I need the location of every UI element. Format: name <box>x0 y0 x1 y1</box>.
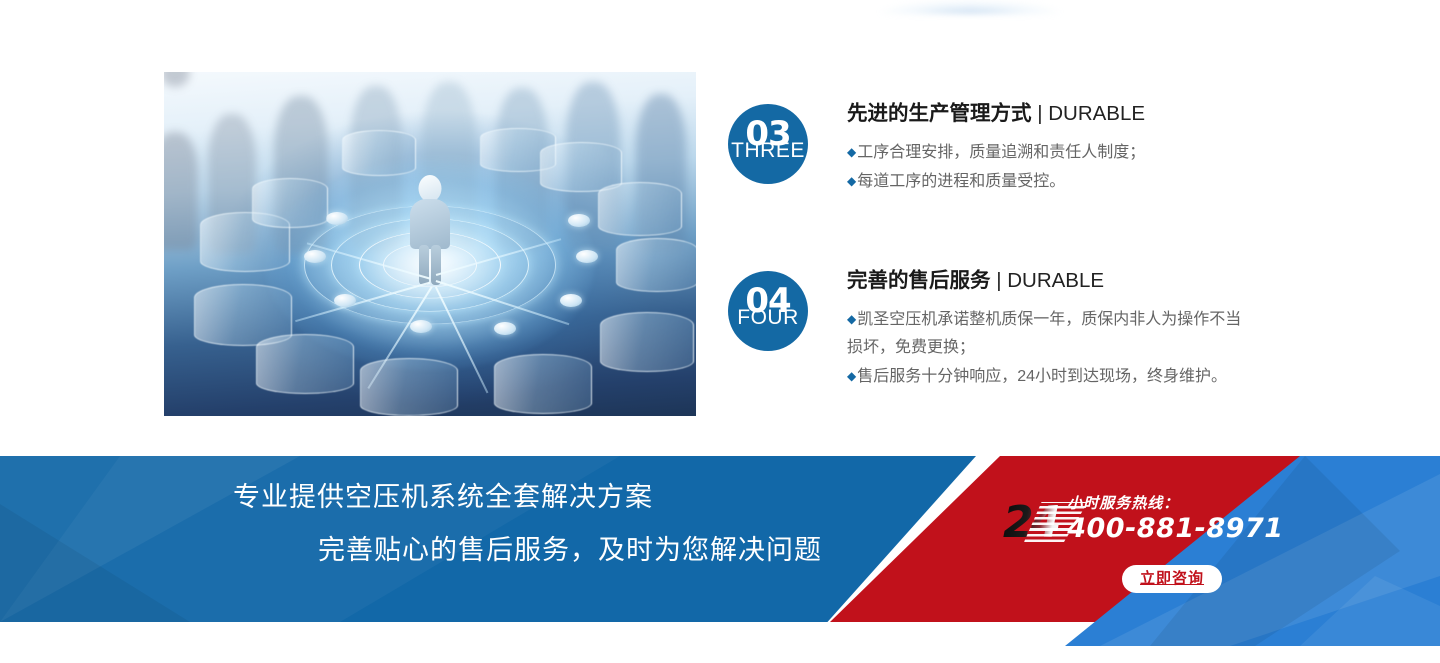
feature-line-text: 售后服务十分钟响应，24小时到达现场，终身维护。 <box>857 368 1227 385</box>
feature-badge-03: 03 THREE <box>728 104 808 184</box>
diamond-bullet-icon: ◆ <box>847 174 856 188</box>
feature-title-cn: 先进的生产管理方式 <box>847 102 1032 125</box>
diamond-bullet-icon: ◆ <box>847 145 856 159</box>
hotline-number: 400-881-8971 <box>1067 515 1283 542</box>
diamond-bullet-icon: ◆ <box>847 369 856 383</box>
hotline-block: 24 小时服务热线： 400-881-8971 <box>1003 496 1284 545</box>
central-person-figure <box>410 175 450 283</box>
slogan-line-2: 完善贴心的售后服务，及时为您解决问题 <box>318 537 910 564</box>
diamond-bullet-icon: ◆ <box>847 312 856 326</box>
feature-title-cn: 完善的售后服务 <box>847 269 991 292</box>
feature-line-text: 凯圣空压机承诺整机质保一年，质保内非人为操作不当损坏，免费更换； <box>847 311 1241 356</box>
cta-banner: 专业提供空压机系统全套解决方案 完善贴心的售后服务，及时为您解决问题 <box>0 456 1440 646</box>
feature-bullet-line: ◆工序合理安排，质量追溯和责任人制度； <box>847 138 1145 167</box>
hotline-label: 小时服务热线： <box>1067 496 1283 511</box>
badge-word: FOUR <box>728 307 808 328</box>
feature-title-sep: | <box>1032 102 1049 125</box>
feature-title-en: DURABLE <box>1007 269 1104 292</box>
consult-now-button[interactable]: 立即咨询 <box>1122 565 1222 593</box>
slogan-line-1: 专业提供空压机系统全套解决方案 <box>233 484 910 511</box>
feature-item-04: 04 FOUR 完善的售后服务 | DURABLE ◆凯圣空压机承诺整机质保一年… <box>728 271 1252 391</box>
features-section: 03 THREE 先进的生产管理方式 | DURABLE ◆工序合理安排，质量追… <box>0 0 1440 456</box>
hotline-24-graphic: 24 <box>1003 501 1064 545</box>
feature-line-text: 每道工序的进程和质量受控。 <box>857 173 1065 190</box>
badge-word: THREE <box>728 140 808 161</box>
feature-title-04: 完善的售后服务 | DURABLE <box>847 271 1252 292</box>
feature-title-sep: | <box>991 269 1008 292</box>
feature-title-03: 先进的生产管理方式 | DURABLE <box>847 104 1145 125</box>
feature-line-text: 工序合理安排，质量追溯和责任人制度； <box>857 144 1145 161</box>
feature-badge-04: 04 FOUR <box>728 271 808 351</box>
feature-title-en: DURABLE <box>1048 102 1145 125</box>
feature-bullet-line: ◆每道工序的进程和质量受控。 <box>847 167 1145 196</box>
feature-bullet-line: ◆售后服务十分钟响应，24小时到达现场，终身维护。 <box>847 362 1252 391</box>
network-hub-image <box>164 72 696 416</box>
banner-slogan: 专业提供空压机系统全套解决方案 完善贴心的售后服务，及时为您解决问题 <box>0 484 910 564</box>
feature-bullet-line: ◆凯圣空压机承诺整机质保一年，质保内非人为操作不当损坏，免费更换； <box>847 305 1252 362</box>
feature-item-03: 03 THREE 先进的生产管理方式 | DURABLE ◆工序合理安排，质量追… <box>728 104 1145 196</box>
